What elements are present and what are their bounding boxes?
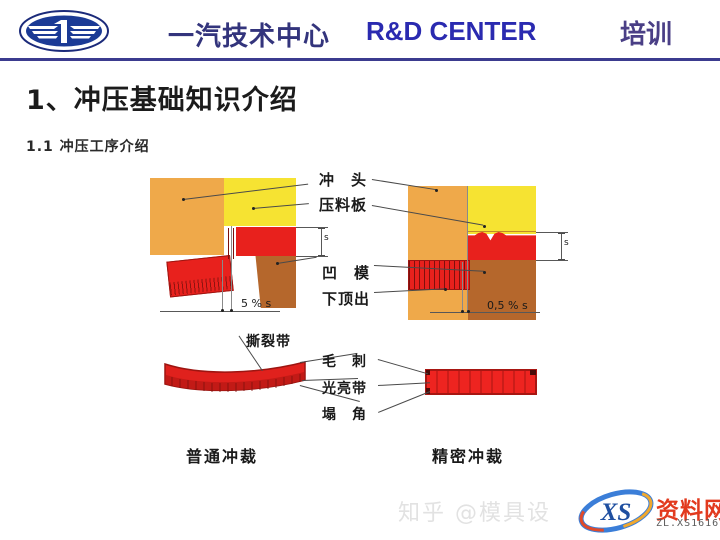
cut-center-line-left [231, 226, 232, 310]
clearance-baseline-right [430, 312, 540, 313]
callout-ejector-label: 下顶出 [322, 288, 370, 309]
leader-rollover-precision [378, 391, 430, 413]
leader-bright-band-precision [378, 382, 430, 386]
leader-die-dot-right [483, 271, 486, 274]
dim-s-cap-top-left [318, 228, 325, 229]
xs-ring-logo-icon: XS [576, 489, 656, 533]
shear-hatch-part-right [409, 261, 469, 289]
slide-header: 一汽技术中心 R&D CENTER 培训 [0, 0, 720, 62]
callout-die-label: 凹 模 [322, 262, 370, 283]
callout-holder-label: 压料板 [319, 194, 367, 215]
clearance-dot-b-right [467, 310, 470, 313]
leader-punch-right [372, 179, 437, 190]
leader-burr-precision [378, 359, 428, 374]
callout-tear-band-label: 撕裂带 [246, 331, 291, 351]
leader-holder-dot-left [252, 207, 255, 210]
dim-s-bot-ext-right [536, 260, 568, 261]
dim-s-arrow-left [321, 227, 322, 257]
callout-punch-label: 冲 头 [319, 169, 367, 190]
leader-punch-dot-left [182, 198, 185, 201]
watermark-zhihu-text: 知乎 @模具设 [398, 495, 551, 527]
page-subtitle: 1.1 冲压工序介绍 [26, 136, 150, 156]
sheet-red-vee-right [468, 232, 536, 260]
callout-rollover-label: 塌 角 [322, 404, 367, 424]
leader-ejector-dot-right [444, 288, 447, 291]
blank-holder-block-left [224, 178, 296, 226]
clearance-ext-a-left [222, 260, 223, 312]
dim-s-cap-bot-right [558, 259, 565, 260]
clearance-dot-b-left [230, 309, 233, 312]
clearance-dot-a-left [221, 309, 224, 312]
dim-s-arrow-right [561, 232, 562, 261]
callout-burr-label: 毛 刺 [322, 351, 367, 371]
header-company-en: R&D CENTER [366, 16, 536, 47]
leader-punch-dot-right [435, 189, 438, 192]
ordinary-blank-shape [162, 358, 308, 400]
faw-oval-logo-icon [18, 9, 110, 53]
header-divider [0, 58, 720, 61]
clearance-dot-a-right [461, 310, 464, 313]
dim-s-label-right: s [564, 238, 569, 248]
blanked-part-right [408, 260, 470, 290]
dim-s-cap-top-right [558, 233, 565, 234]
clearance-baseline-left [160, 311, 280, 312]
header-section-label: 培训 [620, 14, 672, 51]
punch-block-right [408, 186, 468, 320]
svg-text:XS: XS [600, 499, 632, 526]
callout-bright-band-label: 光亮带 [322, 378, 367, 398]
clearance-label-left: 5 % s [241, 297, 271, 310]
punch-block-left [150, 178, 224, 255]
sheet-top-line-right [468, 231, 536, 232]
blank-holder-block-right [468, 186, 536, 234]
dim-s-cap-bot-left [318, 255, 325, 256]
blanked-part-left [166, 255, 233, 297]
header-company-cn: 一汽技术中心 [168, 16, 330, 53]
clearance-label-right: 0,5 % s [487, 299, 528, 312]
page-title: 1、冲压基础知识介绍 [26, 78, 298, 117]
precision-blank-shape [424, 368, 538, 396]
sheet-red-upper-left [236, 227, 296, 256]
shear-band-left [228, 228, 237, 259]
caption-ordinary-blanking: 普通冲裁 [186, 443, 258, 467]
caption-precision-blanking: 精密冲裁 [432, 443, 504, 467]
watermark-url-text: ZL.XS1616.COM [656, 518, 720, 529]
dim-s-label-left: s [324, 233, 329, 243]
leader-holder-dot-right [483, 225, 486, 228]
cut-center-line-right [467, 186, 468, 312]
leader-die-dot-left [276, 262, 279, 265]
watermark: 知乎 @模具设 XS 资料网 ZL.XS1616.COM [398, 487, 720, 537]
tear-hatch-part-left [170, 276, 233, 295]
